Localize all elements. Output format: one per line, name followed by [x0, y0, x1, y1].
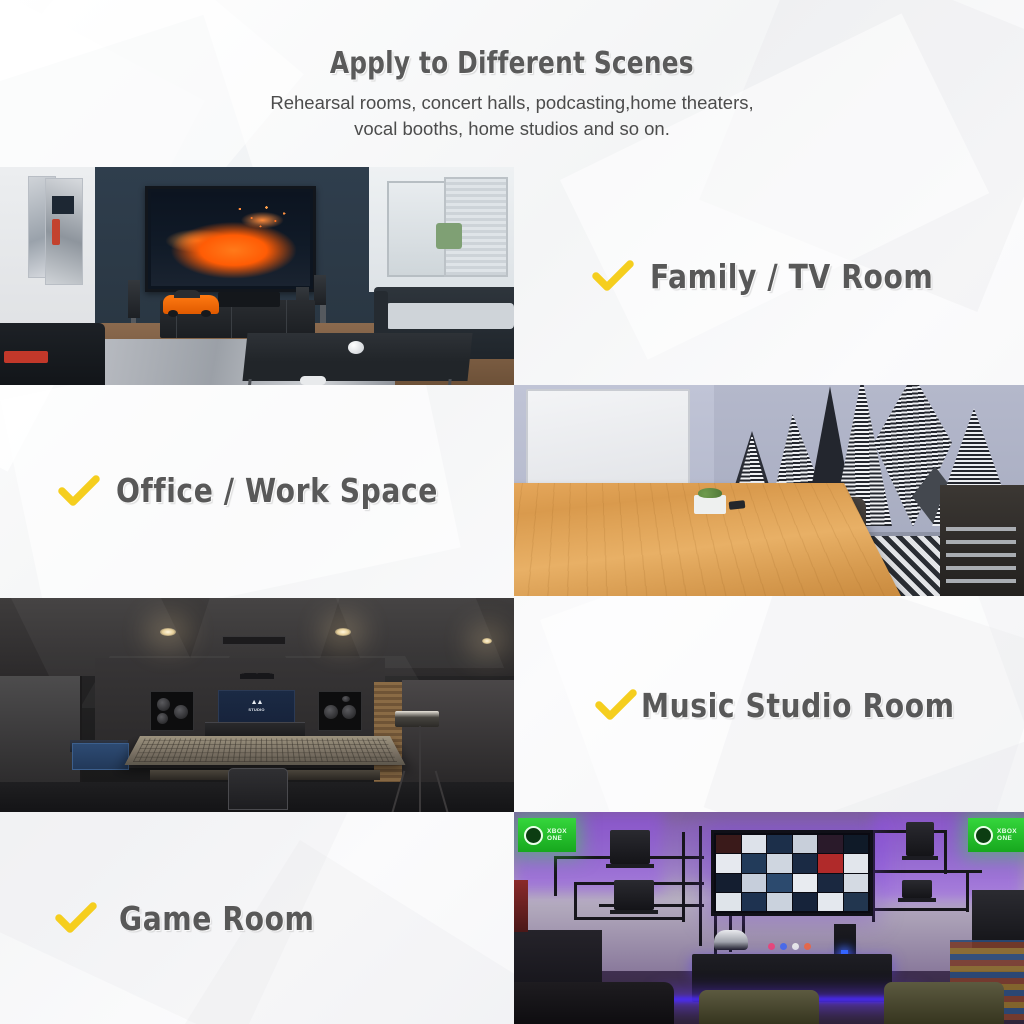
page-title: Apply to Different Scenes	[330, 46, 694, 81]
scene-label-text: Music Studio Room	[641, 686, 955, 725]
label-cell-game-room: Game Room	[0, 812, 514, 1024]
xbox-sign-left: XBOX ONE	[518, 818, 576, 852]
scene-label-text: Family / TV Room	[650, 257, 933, 296]
xbox-sign-right: XBOX ONE	[968, 818, 1024, 852]
page-subtitle: Rehearsal rooms, concert halls, podcasti…	[270, 90, 753, 142]
scene-label-text: Game Room	[119, 899, 315, 938]
label-cell-office-work-space: Office / Work Space	[0, 385, 514, 596]
whiteboard	[526, 389, 690, 491]
scene-label-music-studio-room: Music Studio Room	[514, 686, 971, 725]
check-icon	[595, 688, 637, 722]
scene-row-family-tv-room: Family / TV Room	[0, 167, 1024, 385]
subtitle-line-1: Rehearsal rooms, concert halls, podcasti…	[270, 90, 753, 116]
check-icon	[592, 259, 634, 293]
photo-music-studio-room: ▲▲ STUDIO	[0, 598, 514, 812]
scene-row-game-room: Game Room X	[0, 812, 1024, 1024]
scene-label-game-room: Game Room	[0, 899, 325, 938]
infographic-page: Apply to Different Scenes Rehearsal room…	[0, 0, 1024, 1024]
scene-row-music-studio-room: ▲▲ STUDIO	[0, 598, 1024, 812]
label-cell-music-studio-room: Music Studio Room	[514, 598, 1024, 812]
subtitle-line-2: vocal booths, home studios and so on.	[270, 116, 753, 142]
mixing-console	[124, 736, 405, 765]
playstation-symbols	[764, 942, 814, 951]
photo-game-room: XBOX ONE XBOX ONE	[514, 812, 1024, 1024]
scene-label-text: Office / Work Space	[116, 471, 438, 510]
check-icon	[58, 474, 100, 508]
scene-row-office-work-space: Office / Work Space	[0, 385, 1024, 596]
game-tv-display	[711, 830, 873, 916]
scene-label-family-tv-room: Family / TV Room	[514, 257, 948, 296]
photo-family-tv-room	[0, 167, 514, 385]
photo-office-work-space	[514, 385, 1024, 596]
studio-logo: ▲▲ STUDIO	[237, 700, 277, 712]
label-cell-family-tv-room: Family / TV Room	[514, 167, 1024, 385]
scene-label-office-work-space: Office / Work Space	[0, 471, 455, 510]
check-icon	[55, 901, 97, 935]
tv-display	[145, 186, 316, 292]
page-header: Apply to Different Scenes Rehearsal room…	[0, 0, 1024, 167]
